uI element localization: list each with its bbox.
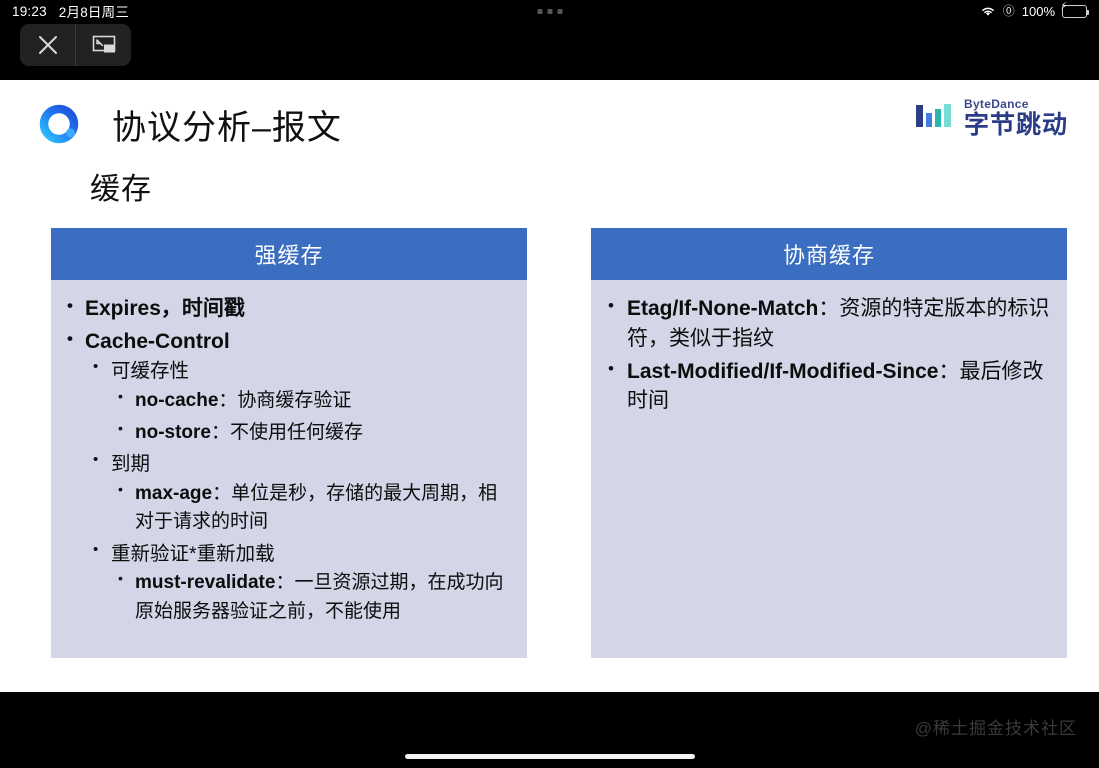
slide-header: 协议分析–报文 缓存 ByteDance 字节跳动 <box>0 80 1099 150</box>
bullet-keyword: Etag/If-None-Match <box>627 297 818 320</box>
bullet-list-level3: must-revalidate：一旦资源过期，在成功向原始服务器验证之前，不能使… <box>111 569 515 626</box>
panel-strong-cache-header: 强缓存 <box>51 228 527 280</box>
panel-strong-cache-body: Expires，时间戳 Cache-Control 可缓存性 no-cache：… <box>51 280 527 639</box>
floating-toolbar <box>20 24 131 66</box>
bytedance-brand-text: ByteDance 字节跳动 <box>964 98 1068 138</box>
list-item: 到期 max-age：单位是秒，存储的最大周期，相对于请求的时间 <box>85 450 515 537</box>
panel-negotiation-cache-header: 协商缓存 <box>591 228 1067 280</box>
close-icon <box>37 34 59 56</box>
brand-name-en: ByteDance <box>964 98 1068 110</box>
bullet-text: ：协商缓存验证 <box>218 390 351 411</box>
slide-canvas: 协议分析–报文 缓存 ByteDance 字节跳动 强缓存 <box>0 80 1099 692</box>
bullet-list-level2: 可缓存性 no-cache：协商缓存验证 no-store：不使用任何缓存 <box>85 357 515 626</box>
battery-percent-label: 100% <box>1022 4 1055 19</box>
status-bar: 19:23 2月8日周三 ⓪ 100% ⚡ <box>0 0 1099 22</box>
list-item: 可缓存性 no-cache：协商缓存验证 no-store：不使用任何缓存 <box>85 357 515 447</box>
bullet-text: ：不使用任何缓存 <box>211 422 363 443</box>
brand-name-cn: 字节跳动 <box>964 113 1068 138</box>
bullet-keyword: Last-Modified/If-Modified-Since <box>627 360 938 383</box>
bullet-keyword: Expires，时间戳 <box>85 297 245 320</box>
list-item: must-revalidate：一旦资源过期，在成功向原始服务器验证之前，不能使… <box>111 569 515 626</box>
panel-strong-cache: 强缓存 Expires，时间戳 Cache-Control 可缓存性 no-ca… <box>51 228 527 658</box>
bottom-bar: @稀土掘金技术社区 <box>0 692 1099 768</box>
list-item: no-store：不使用任何缓存 <box>111 419 515 448</box>
bullet-text: 可缓存性 <box>111 360 189 382</box>
status-time: 19:23 <box>12 4 47 19</box>
bullet-list-level1: Expires，时间戳 Cache-Control 可缓存性 no-cache：… <box>59 294 515 626</box>
list-item: no-cache：协商缓存验证 <box>111 387 515 416</box>
three-dots-indicator-icon <box>537 9 562 14</box>
wifi-icon <box>980 5 996 17</box>
list-item: max-age：单位是秒，存储的最大周期，相对于请求的时间 <box>111 480 515 537</box>
bullet-keyword: Cache-Control <box>85 330 230 353</box>
picture-in-picture-icon <box>91 34 117 56</box>
status-bar-right: ⓪ 100% ⚡ <box>980 4 1087 19</box>
bullet-list-level1: Etag/If-None-Match：资源的特定版本的标识符，类似于指纹 Las… <box>599 294 1055 416</box>
page-title: 协议分析–报文 <box>112 100 342 149</box>
page-subtitle: 缓存 <box>90 164 152 208</box>
list-item: Cache-Control 可缓存性 no-cache：协商缓存验证 no-st… <box>59 327 515 626</box>
list-item: 重新验证*重新加载 must-revalidate：一旦资源过期，在成功向原始服… <box>85 540 515 627</box>
panel-header-label: 强缓存 <box>254 238 323 270</box>
watermark-label: @稀土掘金技术社区 <box>915 714 1077 739</box>
status-date: 2月8日周三 <box>59 1 129 21</box>
bullet-keyword: no-store <box>135 422 211 443</box>
close-button[interactable] <box>20 24 75 66</box>
app-logo-icon <box>37 102 81 146</box>
list-item: Etag/If-None-Match：资源的特定版本的标识符，类似于指纹 <box>599 294 1055 354</box>
panel-header-label: 协商缓存 <box>783 238 875 270</box>
bullet-keyword: no-cache <box>135 390 218 411</box>
bullet-text: 到期 <box>111 453 150 475</box>
list-item: Last-Modified/If-Modified-Since：最后修改时间 <box>599 357 1055 417</box>
list-item: Expires，时间戳 <box>59 294 515 324</box>
bullet-keyword: max-age <box>135 483 212 504</box>
bullet-list-level3: max-age：单位是秒，存储的最大周期，相对于请求的时间 <box>111 480 515 537</box>
bullet-keyword: must-revalidate <box>135 572 275 593</box>
panel-negotiation-cache: 协商缓存 Etag/If-None-Match：资源的特定版本的标识符，类似于指… <box>591 228 1067 658</box>
battery-charging-icon: ⚡ <box>1062 5 1087 18</box>
home-indicator[interactable] <box>405 754 695 759</box>
bullet-list-level3: no-cache：协商缓存验证 no-store：不使用任何缓存 <box>111 387 515 447</box>
bullet-text: 重新验证*重新加载 <box>111 543 275 565</box>
status-bar-left: 19:23 2月8日周三 <box>12 1 129 21</box>
location-arrow-icon: ⓪ <box>1003 5 1015 17</box>
bytedance-bars-icon <box>915 101 955 136</box>
picture-in-picture-button[interactable] <box>75 24 131 66</box>
panel-negotiation-cache-body: Etag/If-None-Match：资源的特定版本的标识符，类似于指纹 Las… <box>591 280 1067 429</box>
bytedance-brand-logo: ByteDance 字节跳动 <box>915 98 1068 138</box>
